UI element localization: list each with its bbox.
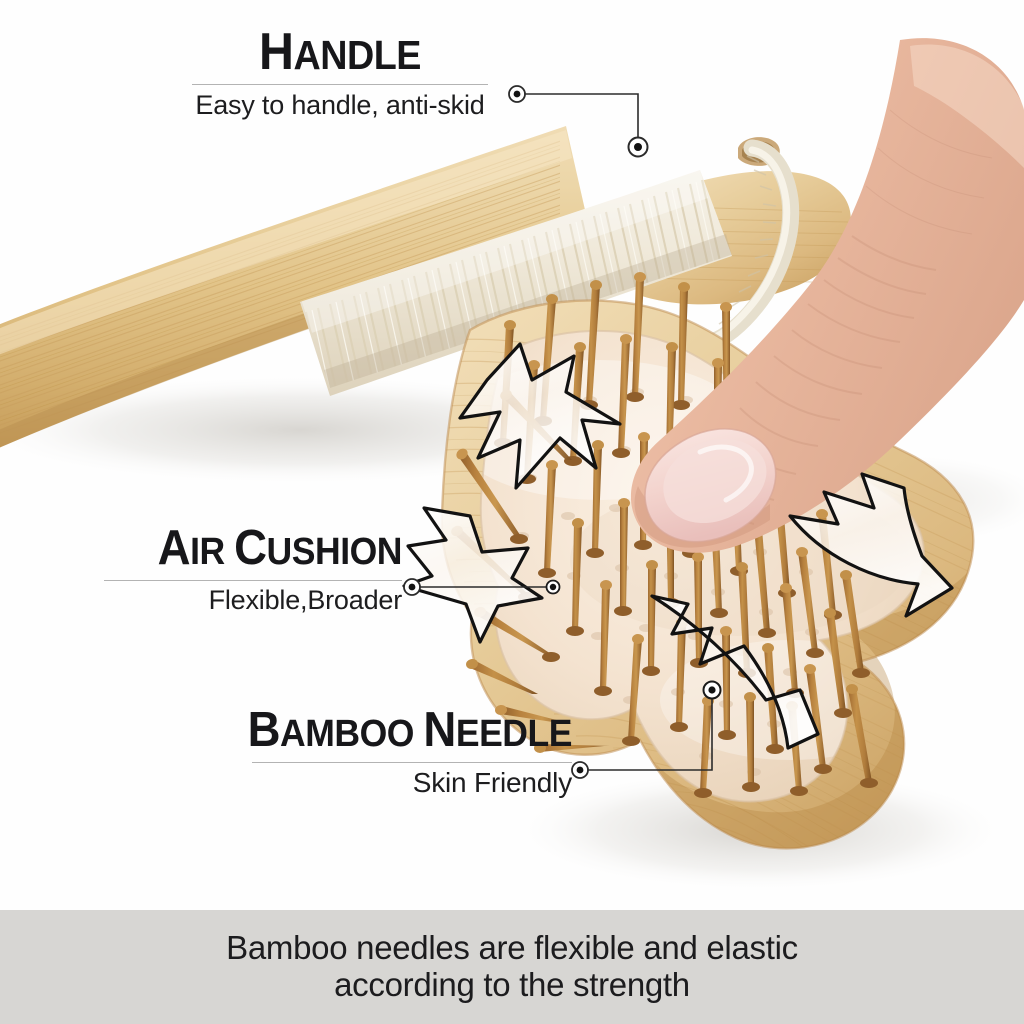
callout-air-cushion-subtitle: Flexible,Broader xyxy=(20,586,402,614)
callout-handle-title: HANDLE xyxy=(163,26,516,78)
leader-dot-handle-end xyxy=(629,138,648,157)
callout-air-title-lead2: C xyxy=(234,521,266,575)
infographic-canvas: HANDLE Easy to handle, anti-skid AIR CUS… xyxy=(0,0,1024,1024)
callout-bamboo-needle-title: BAMBOO NEEDLE xyxy=(124,706,572,755)
callout-needle-title-lead: B xyxy=(248,703,280,757)
callout-air-cushion: AIR CUSHION Flexible,Broader xyxy=(20,524,402,614)
caption-bar: Bamboo needles are flexible and elastic … xyxy=(0,910,1024,1024)
callout-bamboo-needle-subtitle: Skin Friendly xyxy=(90,768,572,797)
leader-dot-needle-start xyxy=(572,762,588,778)
callout-air-title-rest: USHION xyxy=(267,530,402,573)
callout-bamboo-needle-rule xyxy=(252,762,572,763)
callout-air-cushion-rule xyxy=(104,580,402,581)
leader-dot-air-start xyxy=(404,579,420,595)
callout-handle-subtitle: Easy to handle, anti-skid xyxy=(150,91,530,119)
callout-needle-title-lead2: N xyxy=(423,703,455,757)
callout-handle-title-rest: ANDLE xyxy=(293,32,421,78)
caption-line-1: Bamboo needles are flexible and elastic xyxy=(226,930,798,967)
callout-air-cushion-title: AIR CUSHION xyxy=(47,524,402,573)
leader-dot-air-end xyxy=(547,581,560,594)
callout-needle-title-rest: EEDLE xyxy=(456,712,572,755)
caption-line-2: according to the strength xyxy=(226,967,798,1004)
product-photo xyxy=(0,0,1024,1024)
callout-needle-title-mid: AMBOO xyxy=(280,712,423,755)
leader-dot-needle-end xyxy=(704,682,721,699)
callout-bamboo-needle: BAMBOO NEEDLE Skin Friendly xyxy=(90,706,572,797)
callout-handle-rule xyxy=(192,84,488,85)
callout-air-title-mid: IR xyxy=(190,530,234,573)
caption-text: Bamboo needles are flexible and elastic … xyxy=(186,930,838,1004)
callout-air-title-lead: A xyxy=(158,521,190,575)
callout-handle: HANDLE Easy to handle, anti-skid xyxy=(150,26,530,119)
callout-handle-title-lead: H xyxy=(259,23,293,81)
